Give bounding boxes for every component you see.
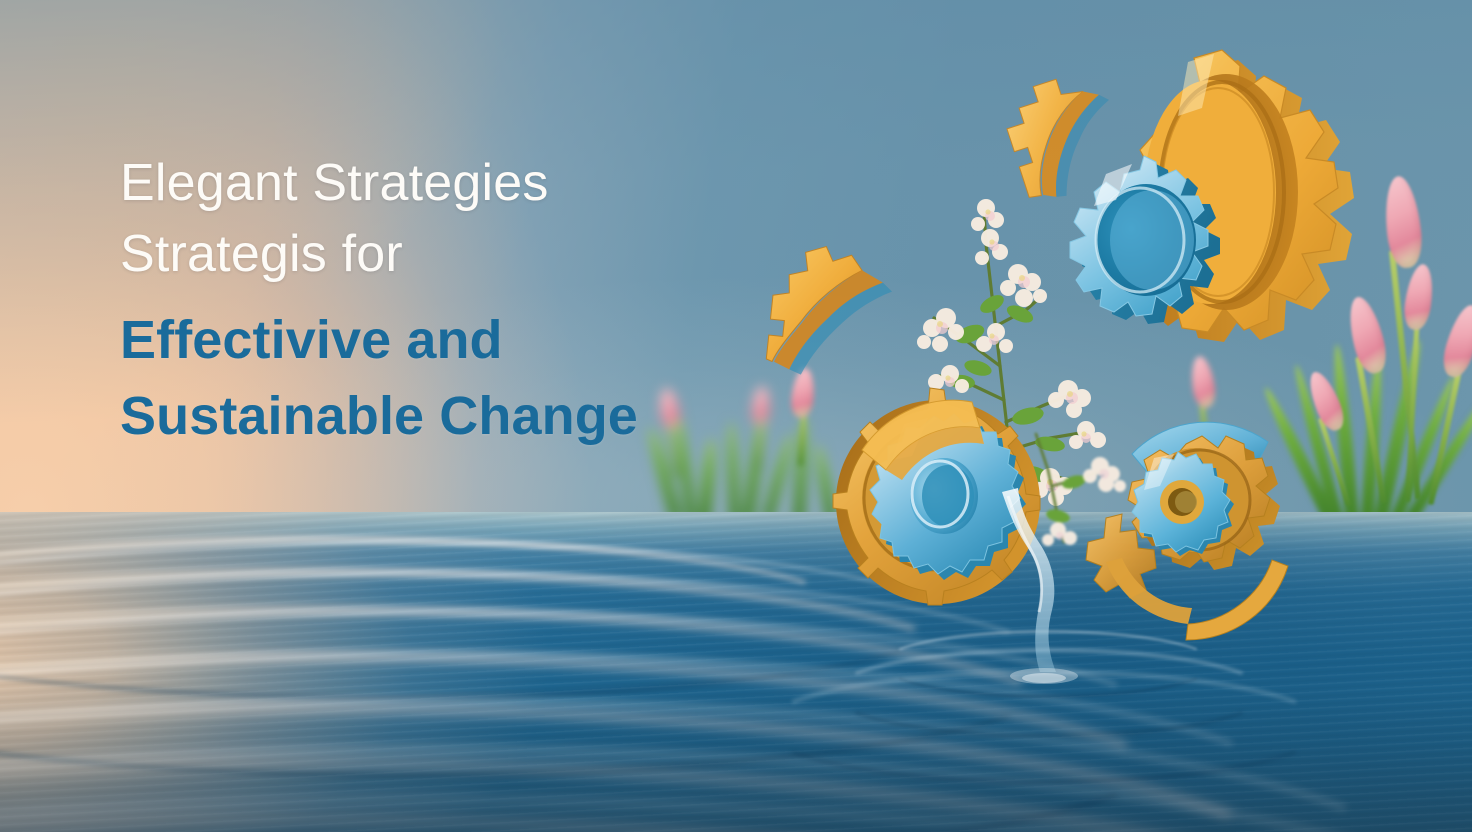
headline-line-4: Sustainable Change: [120, 378, 760, 454]
headline-line-1: Elegant Strategies: [120, 146, 760, 221]
hero-banner: Elegant Strategies Strategis for Effecti…: [0, 0, 1472, 832]
headline-block: Elegant Strategies Strategis for Effecti…: [120, 146, 760, 454]
headline-line-2: Strategis for: [120, 217, 760, 292]
water-stream: [984, 486, 1104, 686]
headline-line-3: Effectivive and: [120, 302, 760, 378]
gear-arc-left: [755, 231, 919, 386]
